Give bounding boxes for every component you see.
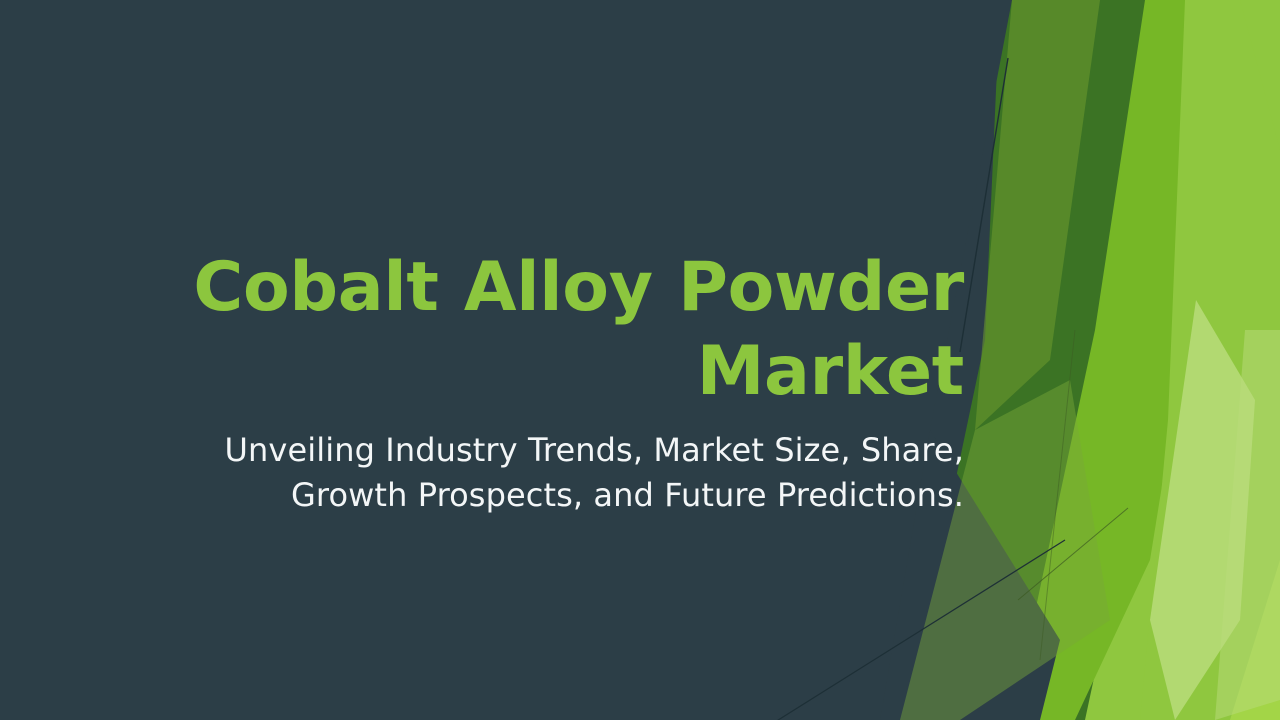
subtitle-block: Unveiling Industry Trends, Market Size, …	[160, 428, 964, 519]
slide-text-layer: Cobalt Alloy Powder Market Unveiling Ind…	[0, 0, 1280, 720]
page-subtitle: Unveiling Industry Trends, Market Size, …	[160, 428, 964, 519]
title-block: Cobalt Alloy Powder Market	[160, 246, 964, 415]
title-slide: Cobalt Alloy Powder Market Unveiling Ind…	[0, 0, 1280, 720]
page-title: Cobalt Alloy Powder Market	[160, 246, 964, 415]
